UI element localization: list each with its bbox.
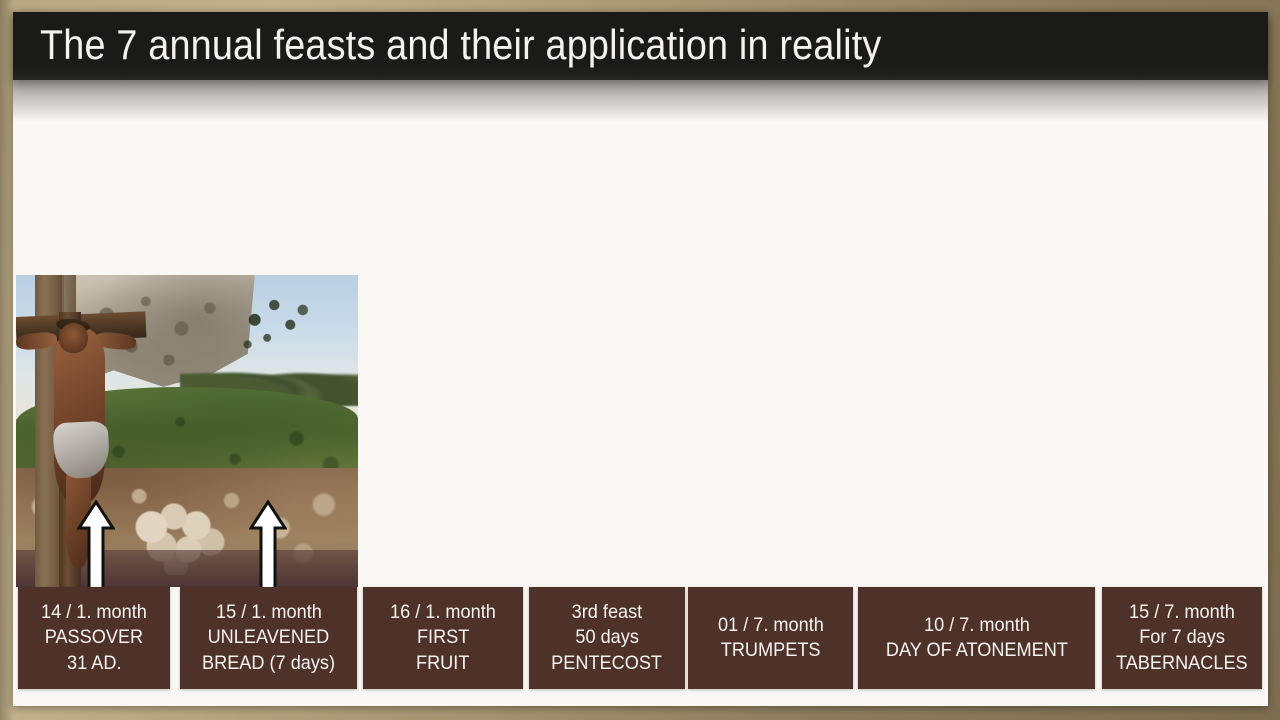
feast-box-first-fruit-line-2: FIRST	[417, 625, 469, 650]
feast-box-trumpets-line-1: 01 / 7. month	[718, 613, 824, 638]
feast-box-unleavened-bread-line-1: 15 / 1. month	[216, 600, 322, 625]
feast-box-trumpets-line-2: TRUMPETS	[721, 638, 821, 663]
page-title: The 7 annual feasts and their applicatio…	[40, 21, 881, 69]
feast-box-unleavened-bread-line-3: BREAD (7 days)	[202, 651, 335, 676]
feast-box-first-fruit-line-1: 16 / 1. month	[390, 600, 496, 625]
feast-box-pentecost-line-3: PENTECOST	[552, 651, 663, 676]
feast-box-trumpets[interactable]: 01 / 7. monthTRUMPETS	[688, 587, 853, 689]
feast-box-pentecost-line-2: 50 days	[575, 625, 639, 650]
feast-box-day-of-atonement-line-1: 10 / 7. month	[924, 613, 1030, 638]
feast-box-tabernacles-line-2: For 7 days	[1139, 625, 1225, 650]
feast-box-first-fruit-line-3: FRUIT	[416, 651, 469, 676]
slide-title-bar: The 7 annual feasts and their applicatio…	[13, 12, 1268, 80]
feast-box-day-of-atonement[interactable]: 10 / 7. monthDAY OF ATONEMENT	[858, 587, 1095, 689]
photo-tree	[228, 287, 317, 368]
feast-box-passover-line-3: 31 AD.	[67, 651, 121, 676]
feast-box-tabernacles-line-3: TABERNACLES	[1116, 651, 1248, 676]
feast-box-unleavened-bread-line-2: UNLEAVENED	[208, 625, 330, 650]
frame-left-shadow	[0, 0, 14, 720]
slide-outer-frame: The 7 annual feasts and their applicatio…	[0, 0, 1280, 720]
feast-box-passover[interactable]: 14 / 1. monthPASSOVER31 AD.	[18, 587, 170, 689]
feast-box-tabernacles[interactable]: 15 / 7. monthFor 7 daysTABERNACLES	[1102, 587, 1262, 689]
arrow-passover-icon	[77, 500, 115, 592]
arrow-unleavened-bread-icon	[249, 500, 287, 592]
feast-box-day-of-atonement-line-2: DAY OF ATONEMENT	[885, 638, 1067, 663]
feast-box-tabernacles-line-1: 15 / 7. month	[1129, 600, 1235, 625]
feast-box-unleavened-bread[interactable]: 15 / 1. monthUNLEAVENEDBREAD (7 days)	[180, 587, 357, 689]
feast-box-pentecost-line-1: 3rd feast	[572, 600, 643, 625]
feast-box-passover-line-2: PASSOVER	[45, 625, 143, 650]
crucifixion-photo	[16, 275, 358, 587]
feast-box-first-fruit[interactable]: 16 / 1. monthFIRSTFRUIT	[363, 587, 523, 689]
feast-box-passover-line-1: 14 / 1. month	[41, 600, 147, 625]
feast-box-pentecost[interactable]: 3rd feast50 daysPENTECOST	[529, 587, 685, 689]
